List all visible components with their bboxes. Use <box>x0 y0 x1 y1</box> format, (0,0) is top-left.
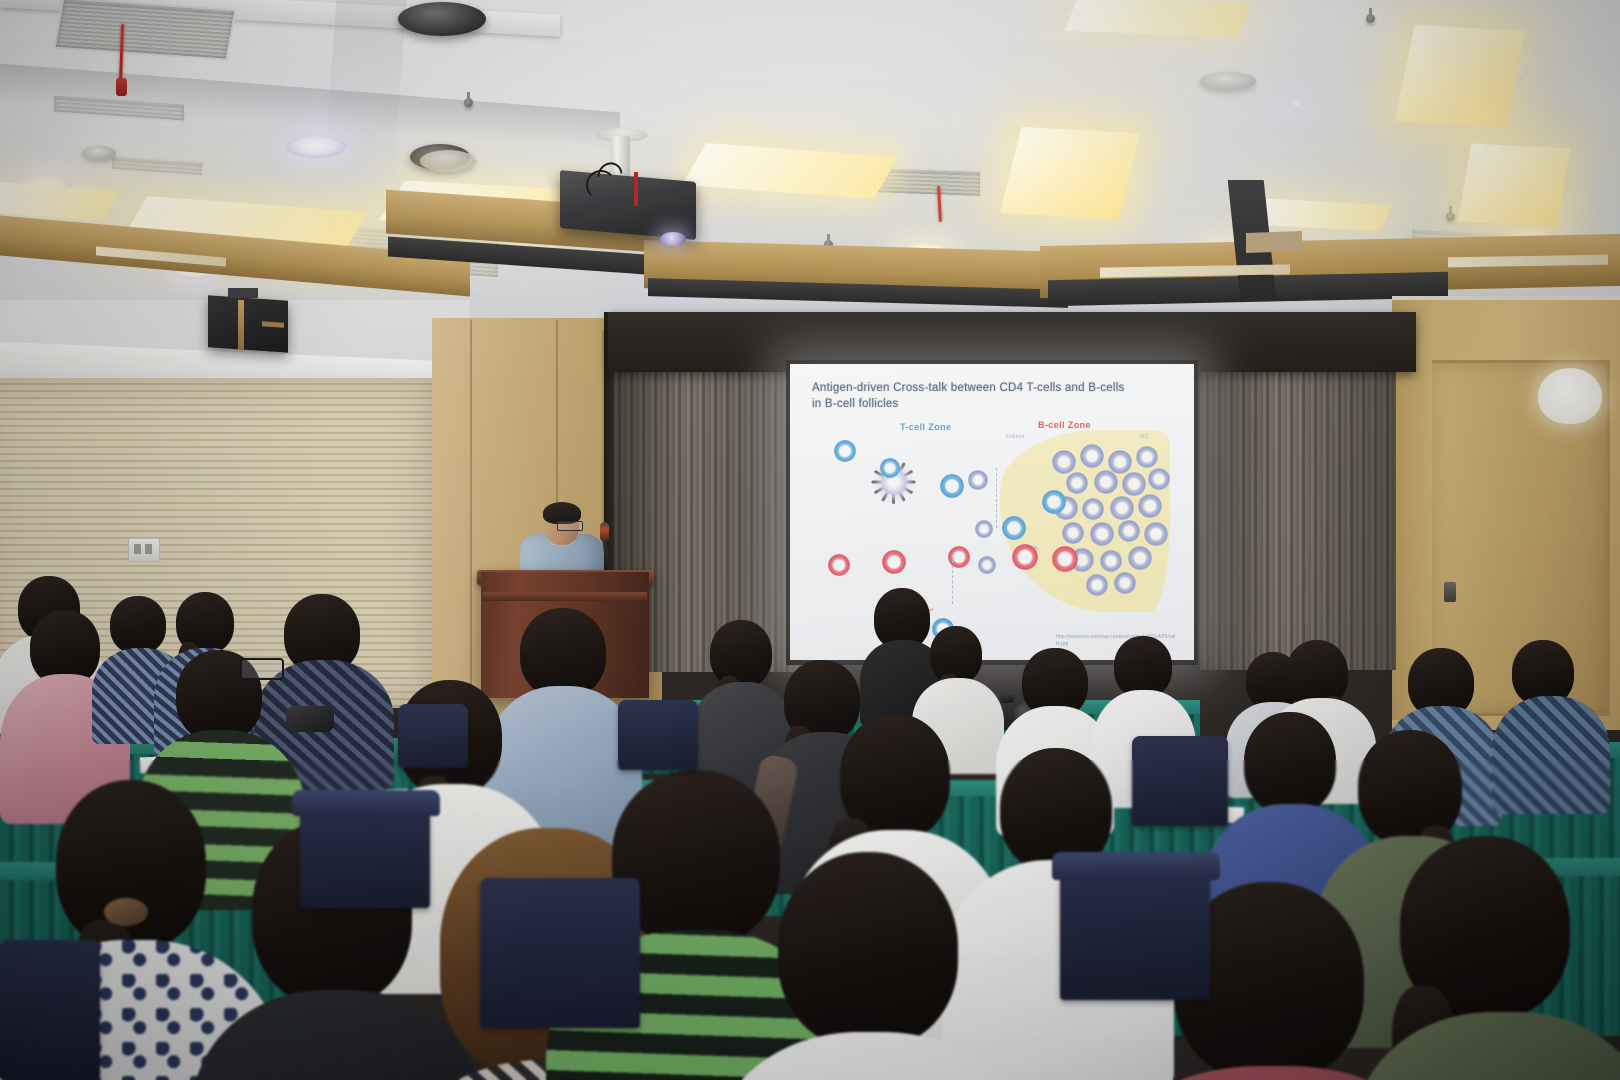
panel-light <box>1458 143 1571 226</box>
bcell-icon <box>1090 522 1114 546</box>
panel-light <box>1064 0 1251 37</box>
bcell-icon <box>978 556 996 574</box>
wall-lamp <box>1538 368 1602 424</box>
presentation-slide: Antigen-driven Cross-talk between CD4 T-… <box>790 364 1194 660</box>
projector-indicator <box>634 172 638 206</box>
tcell-icon <box>968 470 988 490</box>
smoke-detector-icon <box>1200 72 1256 90</box>
bcell-icon <box>1128 546 1152 570</box>
smoke-detector-icon <box>420 150 476 172</box>
wall-outlet-slot <box>134 544 141 554</box>
camera-flash <box>1000 694 1014 703</box>
chair-rim <box>1052 852 1220 880</box>
podium-lip <box>483 592 647 601</box>
sprinkler-icon <box>464 98 473 107</box>
panel-light <box>1000 127 1140 219</box>
tcell-icon <box>940 474 964 498</box>
follicle-label: Follicle <box>1006 434 1025 441</box>
chair[interactable] <box>0 940 100 1080</box>
bcell-icon <box>1122 472 1146 496</box>
bcell-icon <box>1114 572 1136 594</box>
chair[interactable] <box>480 878 640 1028</box>
wood-seam <box>470 320 472 718</box>
bcell-icon <box>1082 498 1104 520</box>
curtain-shading <box>1200 340 1396 670</box>
handheld-device <box>286 706 334 732</box>
bcell-icon <box>975 520 993 538</box>
bcell-icon <box>1144 522 1168 546</box>
chair[interactable] <box>1132 736 1228 826</box>
bcell-icon <box>1148 468 1170 490</box>
ceiling-dome-icon <box>398 2 486 36</box>
projector-lens <box>660 232 686 246</box>
hair-tie <box>104 898 148 926</box>
slide-title-line1: Antigen-driven Cross-talk between CD4 T-… <box>812 380 1177 396</box>
bcell-icon <box>1052 450 1076 474</box>
sprinkler-icon <box>1366 14 1375 23</box>
dashed-divider <box>952 560 953 604</box>
bcell-zone-label: B-cell Zone <box>1038 420 1091 430</box>
slide-title-line2: in B-cell follicles <box>812 396 1177 412</box>
gc-label: GC <box>1140 434 1149 441</box>
chair[interactable] <box>618 700 698 770</box>
downlight <box>1290 100 1304 108</box>
tcell-icon <box>834 440 856 462</box>
bcell-icon <box>1080 444 1104 468</box>
slide-title: Antigen-driven Cross-talk between CD4 T-… <box>812 380 1177 412</box>
wall-speaker-stripe <box>238 300 244 350</box>
chair-rim <box>292 790 440 816</box>
vent-tassel-knot <box>116 78 127 96</box>
bcell-icon <box>1100 550 1122 572</box>
panel-light <box>1394 25 1525 127</box>
projector <box>560 170 696 240</box>
sprinkler-icon <box>1446 212 1455 221</box>
bcell-icon <box>1118 520 1140 542</box>
bcell-icon <box>1052 546 1078 572</box>
glasses-icon <box>557 521 583 531</box>
microphone-icon <box>600 522 609 542</box>
wall-speaker-bracket <box>228 288 258 298</box>
tfh-cell-icon <box>828 554 850 576</box>
tcell-zone-label: T-cell Zone <box>900 422 951 432</box>
glasses-icon <box>240 658 284 680</box>
smoke-detector-icon <box>82 146 116 160</box>
tfh-cell-icon <box>1012 544 1038 570</box>
projection-screen: Antigen-driven Cross-talk between CD4 T-… <box>790 364 1194 660</box>
bcell-icon <box>1138 494 1162 518</box>
tfh-cell-icon <box>882 550 906 574</box>
bcell-icon <box>1066 472 1088 494</box>
tcell-icon <box>880 458 900 478</box>
wall-outlet <box>128 538 160 562</box>
ceiling-fixture <box>1246 231 1302 253</box>
bcell-icon <box>1094 470 1118 494</box>
bcell-icon <box>1136 446 1158 468</box>
wall-outlet-slot <box>145 544 152 554</box>
chair[interactable] <box>398 704 468 768</box>
chair[interactable] <box>1060 860 1210 1000</box>
downlight <box>286 135 346 158</box>
tcell-icon <box>1002 516 1026 540</box>
bcell-icon <box>1062 522 1084 544</box>
lecture-hall-photo: Antigen-driven Cross-talk between CD4 T-… <box>0 0 1620 1080</box>
bcell-icon <box>1042 490 1066 514</box>
bcell-icon <box>1110 496 1134 520</box>
door-handle[interactable] <box>1444 582 1456 602</box>
dashed-divider <box>996 468 997 528</box>
bcell-icon <box>1086 574 1108 596</box>
